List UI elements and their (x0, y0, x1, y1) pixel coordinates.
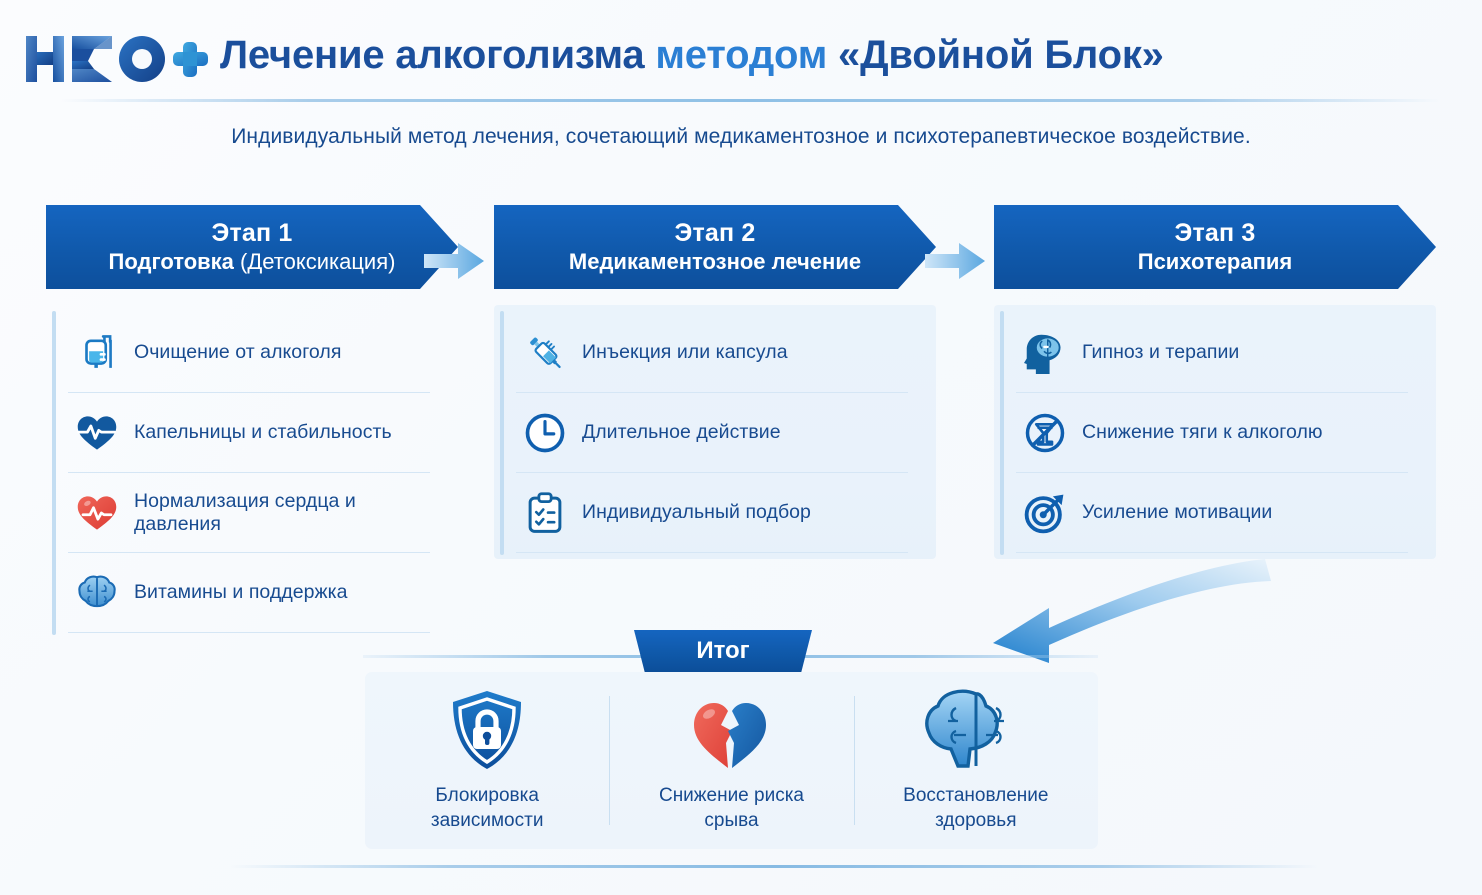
accent-bar (500, 311, 504, 555)
title-main: Лечение алкоголизма (220, 33, 655, 77)
list-item[interactable]: Капельницы и стабильность (68, 393, 430, 473)
list-item-label: Индивидуальный подбор (574, 501, 811, 524)
result-cell[interactable]: Блокировка зависимости (365, 672, 609, 849)
page-title: Лечение алкоголизма методом «Двойной Бло… (220, 33, 1164, 78)
stage-items-3: Гипноз и терапии Снижение тяги к алкогол… (994, 305, 1436, 559)
result-cell[interactable]: Восстановление здоровья (854, 672, 1098, 849)
stage-name-soft-1: (Детоксикация) (240, 249, 395, 274)
result-label-line2: здоровья (903, 809, 1048, 833)
infographic-page: Лечение алкоголизма методом «Двойной Бло… (0, 0, 1482, 895)
list-item-label: Инъекция или капсула (574, 341, 788, 364)
result-cell[interactable]: Снижение риска срыва (609, 672, 853, 849)
shield-lock-icon (447, 688, 527, 772)
stage-header-1[interactable]: Этап 1 Подготовка (Детоксикация) (46, 205, 458, 289)
accent-bar (52, 311, 56, 635)
result-label-line1: Восстановление (903, 784, 1048, 808)
arrow-right-icon (424, 243, 484, 279)
target-arrow-icon (1016, 492, 1074, 534)
head-brain-icon (1016, 332, 1074, 374)
stage-name-main-3: Психотерапия (1138, 249, 1292, 274)
broken-heart-icon (686, 688, 776, 772)
footer-divider (230, 865, 1320, 868)
result-banner: Итог (634, 630, 812, 672)
title-tail: «Двойной Блок» (838, 33, 1164, 77)
stage-number-1: Этап 1 (211, 220, 292, 247)
list-item[interactable]: Длительное действие (516, 393, 908, 473)
list-item-label: Капельницы и стабильность (126, 421, 392, 444)
stage-card-3: Этап 3 Психотерапия Гипноз и терапии (994, 205, 1436, 559)
list-item[interactable]: Нормализация сердца и давления (68, 473, 430, 553)
result-label-line1: Снижение риска (659, 784, 804, 808)
result-label-line1: Блокировка (431, 784, 544, 808)
list-item-label: Усиление мотивации (1074, 501, 1272, 524)
list-item-label: Гипноз и терапии (1074, 341, 1239, 364)
stage-header-3[interactable]: Этап 3 Психотерапия (994, 205, 1436, 289)
stage-card-1: Этап 1 Подготовка (Детоксикация) (46, 205, 458, 639)
stage-name-main-1: Подготовка (109, 249, 241, 274)
result-label-line2: зависимости (431, 809, 544, 833)
result-label: Блокировка зависимости (431, 784, 544, 833)
checklist-clipboard-icon (516, 491, 574, 535)
list-item[interactable]: Усиление мотивации (1016, 473, 1408, 553)
result-label: Восстановление здоровья (903, 784, 1048, 833)
stage-number-2: Этап 2 (674, 220, 755, 247)
heart-pulse-blue-icon (68, 413, 126, 453)
list-item[interactable]: Очищение от алкоголя (68, 313, 430, 393)
list-item-label: Нормализация сердца и давления (126, 490, 430, 536)
list-item[interactable]: Гипноз и терапии (1016, 313, 1408, 393)
stage-card-2: Этап 2 Медикаментозное лечение (494, 205, 936, 559)
list-item[interactable]: Витамины и поддержка (68, 553, 430, 633)
list-item-label: Длительное действие (574, 421, 781, 444)
result-panel: Блокировка зависимости (365, 672, 1098, 849)
stage-name-2: Медикаментозное лечение (569, 249, 861, 274)
stage-number-3: Этап 3 (1174, 220, 1255, 247)
stage-name-main-2: Медикаментозное лечение (569, 249, 861, 274)
result-label-line2: срыва (659, 809, 804, 833)
header: Лечение алкоголизма методом «Двойной Бло… (0, 0, 1482, 100)
list-item[interactable]: Снижение тяги к алкоголю (1016, 393, 1408, 473)
brain-icon (68, 573, 126, 613)
stage-header-2[interactable]: Этап 2 Медикаментозное лечение (494, 205, 936, 289)
list-item-label: Снижение тяги к алкоголю (1074, 421, 1323, 444)
subtitle: Индивидуальный метод лечения, сочетающий… (0, 125, 1482, 149)
stage-items-1: Очищение от алкоголя Капельницы и стабил… (46, 305, 458, 639)
title-accent: методом (655, 33, 838, 77)
heart-pulse-red-icon (68, 493, 126, 533)
syringe-icon (516, 331, 574, 375)
list-item-label: Очищение от алкоголя (126, 341, 341, 364)
header-divider (60, 99, 1440, 102)
list-item-label: Витамины и поддержка (126, 581, 348, 604)
no-alcohol-glass-icon (1016, 412, 1074, 454)
arrow-right-icon (925, 243, 985, 279)
list-item[interactable]: Инъекция или капсула (516, 313, 908, 393)
stage-name-1: Подготовка (Детоксикация) (109, 249, 396, 274)
accent-bar (1000, 311, 1004, 555)
neo-plus-logo (24, 30, 210, 88)
clock-icon (516, 412, 574, 454)
curved-arrow-left-icon (975, 545, 1275, 665)
result-label: Снижение риска срыва (659, 784, 804, 833)
list-item[interactable]: Индивидуальный подбор (516, 473, 908, 553)
brain-health-icon (924, 688, 1028, 772)
stage-name-3: Психотерапия (1138, 249, 1292, 274)
stage-items-2: Инъекция или капсула Длительное действие (494, 305, 936, 559)
iv-drip-icon (68, 332, 126, 374)
